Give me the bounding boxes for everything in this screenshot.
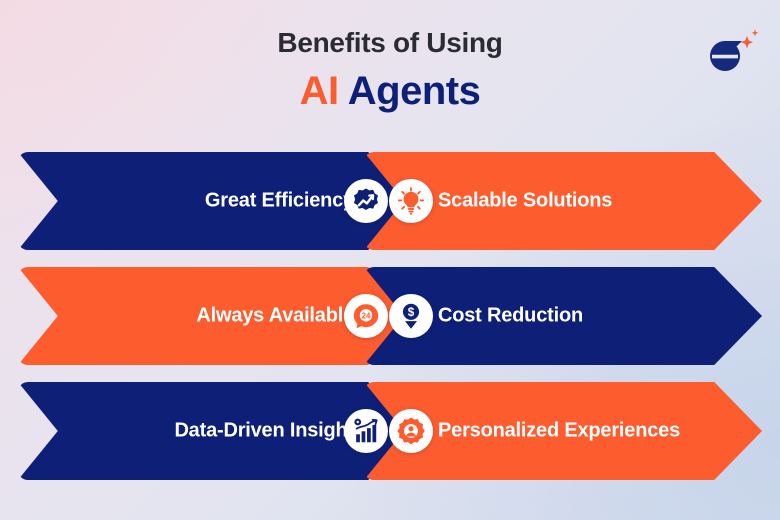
svg-text:$: $ bbox=[408, 306, 415, 319]
bar-chart-gear-icon bbox=[344, 409, 388, 453]
title-line-two: AI Agents bbox=[0, 66, 780, 116]
benefit-row: Always Available Cost Reduction 24 $ bbox=[0, 267, 780, 365]
benefit-row: Great Efficiency Scalable Solutions bbox=[0, 152, 780, 250]
benefit-label: Always Available bbox=[196, 305, 354, 328]
dollar-down-arrow-icon: $ bbox=[389, 294, 433, 338]
benefits-list: Great Efficiency Scalable Solutions bbox=[0, 152, 780, 497]
benefit-label: Data-Driven Insight bbox=[174, 420, 354, 443]
support-24-headset-icon: 24 bbox=[344, 294, 388, 338]
header: Benefits of Using AI Agents bbox=[0, 0, 780, 140]
title-agents-word: Agents bbox=[339, 69, 481, 113]
title-ai-word: AI bbox=[300, 69, 339, 113]
benefit-label: Personalized Experiences bbox=[438, 420, 680, 443]
benefit-label: Cost Reduction bbox=[438, 305, 583, 328]
gear-user-icon bbox=[389, 409, 433, 453]
benefit-row: Data-Driven Insight Personalized Experie… bbox=[0, 382, 780, 480]
svg-text:24: 24 bbox=[362, 311, 371, 320]
growth-chart-arrow-icon bbox=[344, 179, 388, 223]
title-line-one: Benefits of Using bbox=[0, 26, 780, 60]
page-title: Benefits of Using AI Agents bbox=[0, 26, 780, 116]
benefit-label: Great Efficiency bbox=[205, 190, 354, 213]
lightbulb-icon bbox=[389, 179, 433, 223]
stylized-e-logo-icon[interactable] bbox=[700, 26, 762, 74]
benefit-label: Scalable Solutions bbox=[438, 190, 612, 213]
